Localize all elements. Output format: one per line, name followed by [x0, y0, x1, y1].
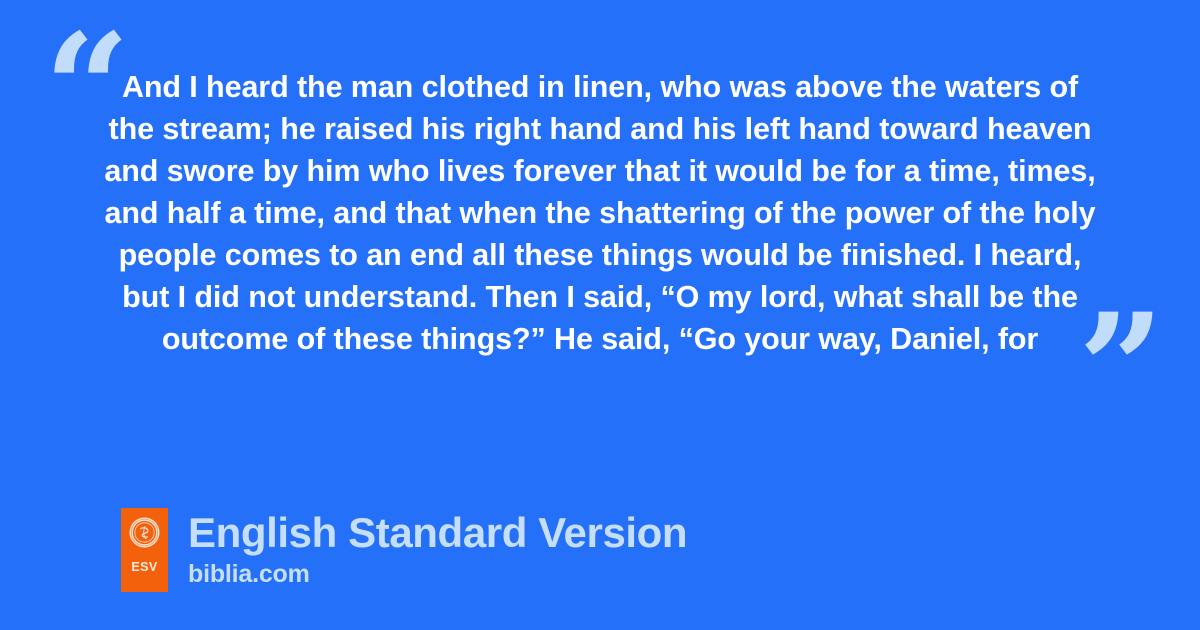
- esv-logo-label: ESV: [131, 561, 157, 574]
- site-name: biblia.com: [188, 556, 687, 588]
- esv-logo-badge: ESV: [121, 508, 168, 592]
- esv-seal-icon: [129, 517, 160, 548]
- quote-card: “ ” And I heard the man clothed in linen…: [0, 0, 1200, 630]
- attribution-footer: ESV English Standard Version biblia.com: [121, 508, 687, 592]
- quote-body: And I heard the man clothed in linen, wh…: [100, 66, 1100, 360]
- quote-text: And I heard the man clothed in linen, wh…: [100, 66, 1100, 360]
- attribution-text-group: English Standard Version biblia.com: [188, 508, 687, 588]
- bible-version-name: English Standard Version: [188, 508, 687, 556]
